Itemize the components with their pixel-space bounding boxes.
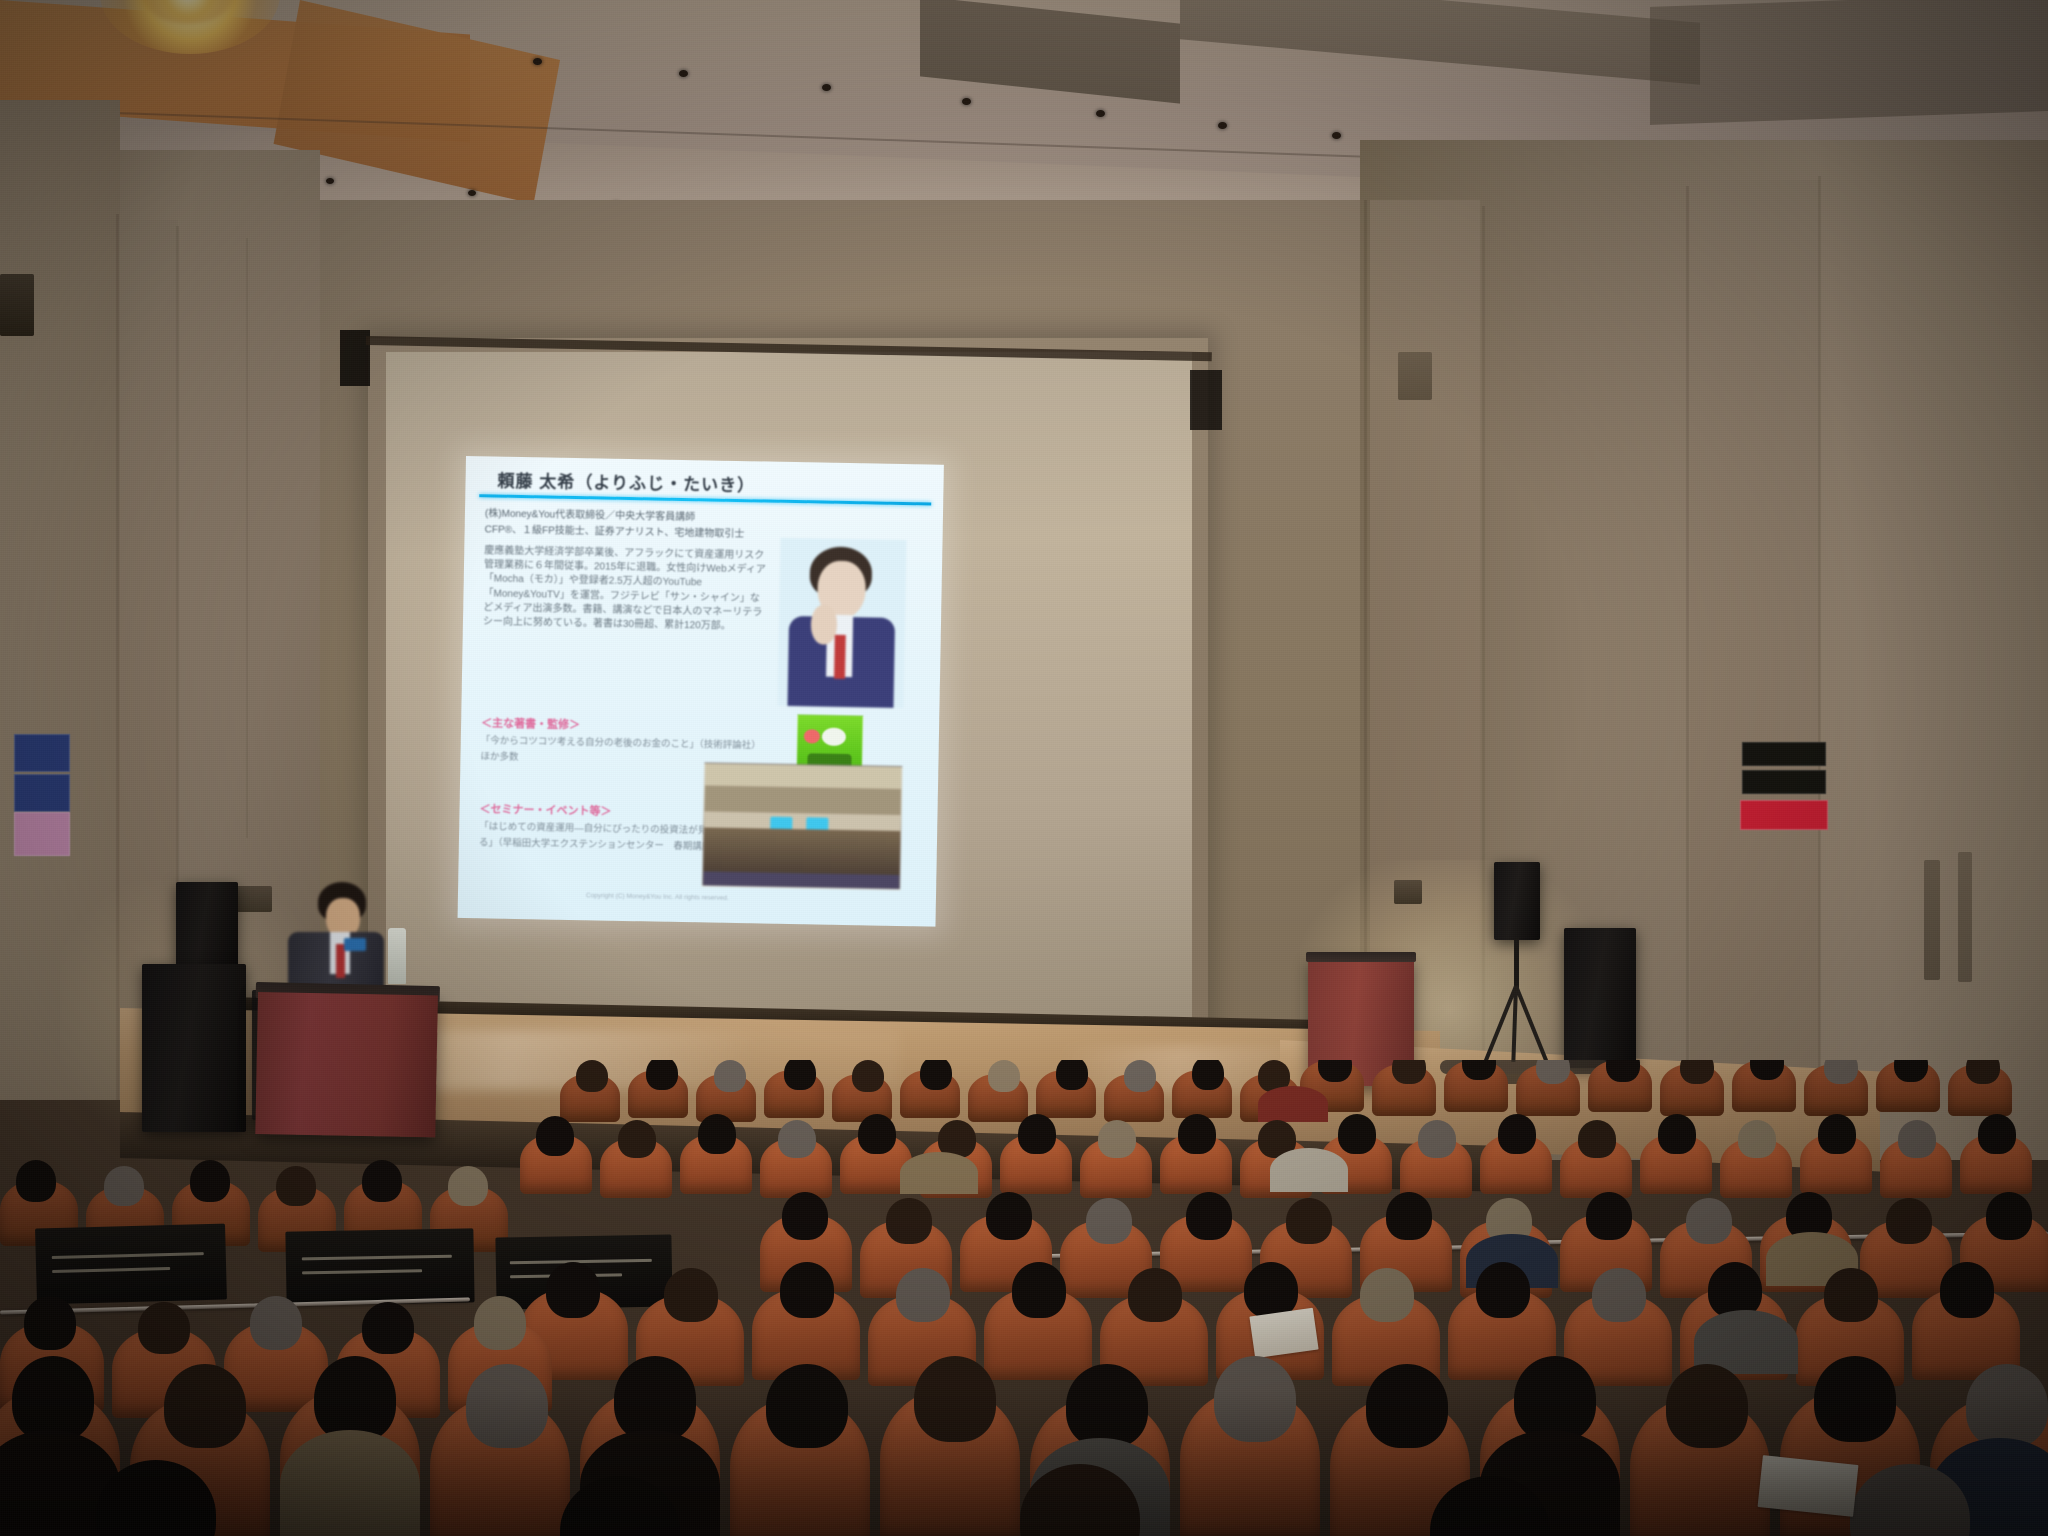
portrait-tie [834, 635, 846, 679]
audience-head [1286, 1198, 1332, 1244]
audience-head [646, 1060, 678, 1090]
right-wall-speaker-mount [1398, 352, 1432, 400]
right-sign-dark-upper [1742, 742, 1826, 766]
seminar-photo-wall [705, 785, 901, 815]
audience-head [1814, 1356, 1896, 1442]
audience-head [914, 1356, 996, 1442]
reserved-board-text-line [302, 1269, 422, 1274]
audience-head [1666, 1364, 1748, 1448]
right-sign-exit-red [1740, 800, 1828, 830]
right-wall-seam-3 [1686, 186, 1689, 1106]
audience-head [780, 1262, 834, 1318]
right-sign-dark-lower [1742, 770, 1826, 794]
slide-title: 頼藤 太希（よりふじ・たいき） [497, 467, 755, 497]
audience-head [1066, 1364, 1148, 1448]
right-wall-strip-2 [1958, 852, 1972, 982]
audience-head [16, 1160, 56, 1202]
audience-head [1824, 1268, 1878, 1322]
audience-head [190, 1160, 230, 1202]
left-sign-blue-upper [14, 734, 70, 772]
left-speaker-top [176, 882, 238, 966]
projected-slide: 頼藤 太希（よりふじ・たいき） (株)Money&You代表取締役／中央大学客員… [458, 456, 944, 927]
reserved-board-text-line [52, 1267, 170, 1273]
left-wall-fixture [0, 274, 34, 336]
ceiling-downlight-4 [962, 98, 971, 105]
audience-head [1392, 1060, 1426, 1084]
audience-head [1966, 1060, 2000, 1084]
portrait-hand [811, 604, 838, 644]
audience-head [536, 1116, 574, 1156]
right-wall-seam-2 [1482, 206, 1485, 1096]
audience-head [1124, 1060, 1156, 1092]
left-wall-seam-3 [246, 238, 248, 838]
audience-head [1818, 1114, 1856, 1154]
audience-head [546, 1262, 600, 1318]
audience-head [1178, 1114, 1216, 1154]
audience-shoulders [1258, 1086, 1328, 1122]
audience-head [1978, 1114, 2016, 1154]
tripod-speaker-cabinet [1494, 862, 1540, 940]
audience-head [1898, 1120, 1936, 1158]
audience-head [1514, 1356, 1596, 1442]
audience-head [858, 1114, 896, 1154]
audience-head [448, 1166, 488, 1206]
left-wall-column [0, 100, 120, 1100]
audience-shoulders [900, 1152, 978, 1194]
reserved-board-text-line [52, 1252, 204, 1259]
audience-area [0, 1060, 2048, 1536]
audience-head [250, 1296, 302, 1350]
audience-head [1986, 1192, 2032, 1240]
reserved-board [285, 1228, 474, 1305]
audience-head [1128, 1268, 1182, 1322]
seminar-photo-foreground [703, 871, 899, 889]
audience-head [1186, 1192, 1232, 1240]
audience-head [920, 1060, 952, 1090]
audience-head [988, 1060, 1020, 1092]
audience-head [1658, 1114, 1696, 1154]
ceiling-downlight-8 [326, 178, 334, 184]
screen-valance-right [1190, 370, 1222, 430]
presenter-microphone [344, 938, 366, 951]
audience-head [1966, 1364, 2048, 1448]
audience-head [1886, 1198, 1932, 1244]
audience-handout [1758, 1455, 1859, 1517]
audience-head [24, 1296, 76, 1350]
audience-head [1192, 1060, 1224, 1090]
audience-head [466, 1364, 548, 1448]
audience-head [362, 1160, 402, 1202]
slide-body-paragraph: 慶應義塾大学経済学部卒業後、アフラックにて資産運用リスク管理業務に６年間従事。2… [483, 544, 767, 634]
seminar-photo-audience [703, 827, 900, 875]
slide-portrait [777, 538, 906, 708]
audience-head [778, 1120, 816, 1158]
book-cover-dot-red [804, 729, 820, 743]
audience-head [1536, 1060, 1570, 1084]
slide-subtitle-line2: CFP®、１級FP技能士、証券アナリスト、宅地建物取引士 [485, 520, 745, 540]
slide-section1-line1: 「今からコツコツ考える自分の老後のお金のこと」（技術評論社） [481, 732, 761, 751]
audience-head [664, 1268, 718, 1322]
audience-head [896, 1268, 950, 1322]
audience-head [1940, 1262, 1994, 1318]
book-cover-dot-white [822, 728, 846, 746]
audience-head [362, 1302, 414, 1354]
ceiling-downlight-7 [1332, 132, 1341, 139]
audience-head [1244, 1262, 1298, 1318]
slide-section1-line2: ほか多数 [480, 748, 518, 763]
water-bottle [388, 928, 406, 984]
audience-head [1586, 1192, 1632, 1240]
audience-head [1056, 1060, 1088, 1090]
ceiling-downlight-2 [679, 70, 688, 77]
reserved-board-text-line [302, 1255, 452, 1261]
audience-head [1592, 1268, 1646, 1322]
audience-head [618, 1120, 656, 1158]
audience-head [614, 1356, 696, 1442]
ceiling-downlight-9 [468, 190, 476, 196]
reserved-board [35, 1224, 227, 1305]
right-lectern-top [1306, 952, 1416, 962]
slide-title-underline [479, 494, 931, 505]
audience-head [1738, 1120, 1776, 1158]
left-sign-pink [14, 812, 70, 856]
slide-seminar-photo [702, 762, 902, 890]
audience-head [1686, 1198, 1732, 1244]
right-wall-strip [1924, 860, 1940, 980]
audience-head [1018, 1114, 1056, 1154]
audience-head [698, 1114, 736, 1154]
audience-head [1214, 1356, 1296, 1442]
right-speaker-cabinet [1564, 928, 1636, 1068]
ceiling-downlight-1 [533, 58, 542, 65]
right-wall-pilaster-2 [1690, 180, 1820, 1110]
audience-shoulders [280, 1430, 420, 1536]
audience-head [1418, 1120, 1456, 1158]
audience-handout [1249, 1308, 1318, 1358]
audience-head [1086, 1198, 1132, 1244]
audience-head [852, 1060, 884, 1092]
audience-head [782, 1192, 828, 1240]
audience-head [1098, 1120, 1136, 1158]
audience-head [1366, 1364, 1448, 1448]
audience-head [714, 1060, 746, 1092]
audience-head [1824, 1060, 1858, 1084]
slide-section2-heading: ＜セミナー・イベント等＞ [479, 800, 611, 818]
ceiling-downlight-6 [1218, 122, 1227, 129]
audience-head [986, 1192, 1032, 1240]
slide-section1-heading: ＜主な著書・監修＞ [481, 714, 580, 732]
audience-head [1360, 1268, 1414, 1322]
slide-footer-copyright: Copyright (C) Money&You Inc. All rights … [586, 892, 729, 902]
audience-head [1680, 1060, 1714, 1084]
ceiling-panel-far-right [1650, 0, 2048, 125]
audience-head [1476, 1262, 1530, 1318]
right-wall-outlet [1394, 880, 1422, 904]
audience-head [276, 1166, 316, 1206]
ceiling-downlight-3 [822, 84, 831, 91]
audience-head [784, 1060, 816, 1090]
audience-head [1498, 1114, 1536, 1154]
audience-head [576, 1060, 608, 1092]
audience-head [766, 1364, 848, 1448]
left-sign-blue-lower [14, 774, 70, 812]
audience-head [1338, 1114, 1376, 1154]
right-wall-seam-4 [1818, 176, 1821, 1106]
audience-head [1386, 1192, 1432, 1240]
ceiling-downlight-5 [1096, 110, 1105, 117]
audience-head [104, 1166, 144, 1206]
audience-head [1578, 1120, 1616, 1158]
audience-head [164, 1364, 246, 1448]
audience-head [314, 1356, 396, 1442]
audience-head [886, 1198, 932, 1244]
audience-head [474, 1296, 526, 1350]
auditorium-photo: 頼藤 太希（よりふじ・たいき） (株)Money&You代表取締役／中央大学客員… [0, 0, 2048, 1536]
audience-head [138, 1302, 190, 1354]
left-wall-seam-1 [116, 214, 119, 1100]
audience-head [1012, 1262, 1066, 1318]
audience-shoulders [1270, 1148, 1348, 1192]
